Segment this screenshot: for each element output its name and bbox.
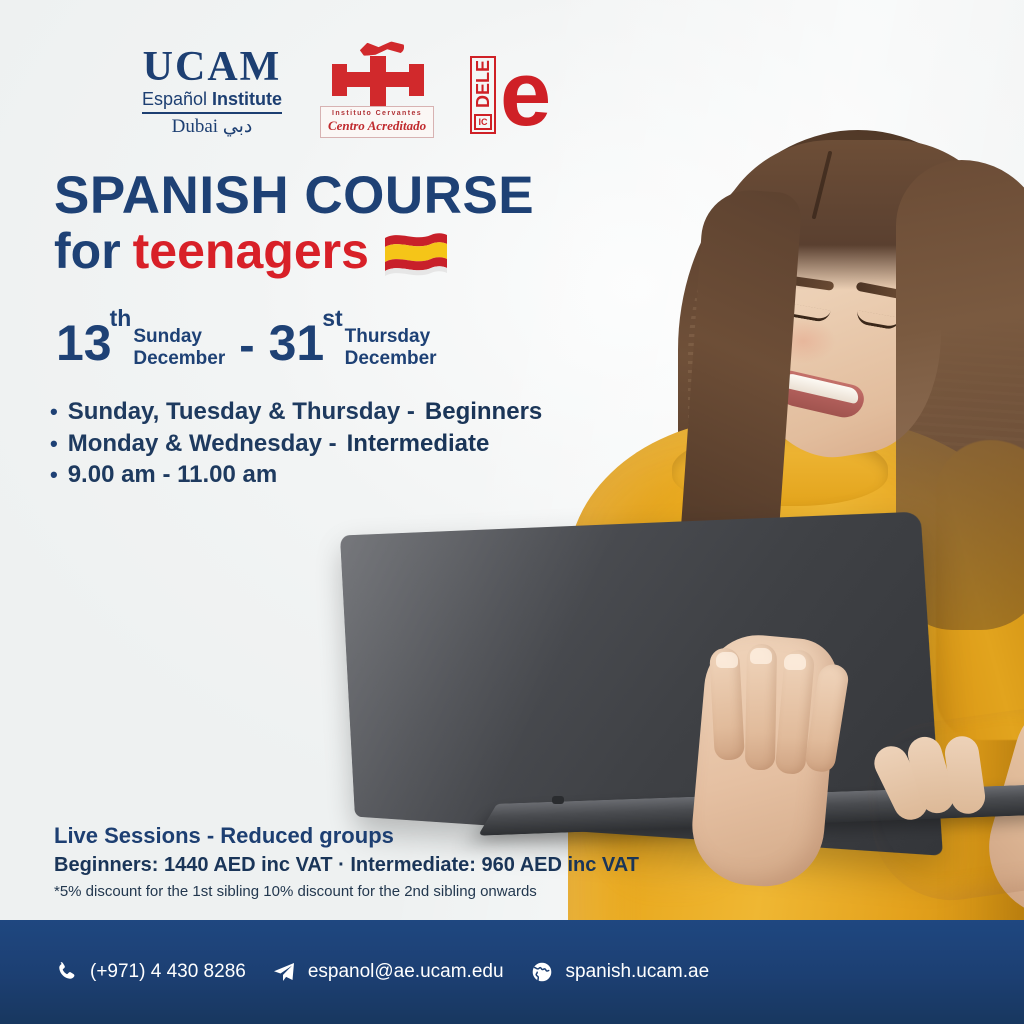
date-end-day: 31 — [269, 320, 325, 368]
pricing-block: Live Sessions - Reduced groups Beginners… — [54, 822, 639, 904]
website-url: spanish.ucam.ae — [566, 961, 710, 983]
headline-block: SPANISH COURSE for teenagers — [54, 168, 614, 278]
contact-website[interactable]: spanish.ucam.ae — [530, 960, 710, 984]
email-address: espanol@ae.ucam.edu — [308, 961, 504, 983]
cervantes-cross-vertical — [370, 56, 386, 108]
date-separator: - — [239, 320, 254, 371]
date-start-suffix: th — [110, 308, 132, 330]
cervantes-tilde-icon — [360, 41, 405, 56]
dele-mark-box: DELE IC — [470, 56, 496, 134]
schedule-level: Beginners — [425, 396, 542, 428]
ucam-subtitle-light: Español — [142, 89, 212, 109]
pricing-fees: Beginners: 1440 AED inc VAT · Intermedia… — [54, 851, 639, 880]
date-end-weekday: Thursday — [345, 326, 437, 348]
bullet-icon: • — [50, 429, 58, 458]
contact-phone[interactable]: (+971) 4 430 8286 — [54, 960, 246, 984]
ucam-city: Dubai دبي — [142, 117, 282, 136]
fingernail — [784, 654, 806, 670]
ucam-subtitle-bold: Institute — [212, 89, 282, 109]
dele-letter-e: e — [500, 59, 551, 131]
date-start-day: 13 — [56, 320, 112, 368]
fingernail — [716, 652, 738, 668]
ucam-wordmark: UCAM — [142, 46, 282, 88]
poster-canvas: UCAM Español Institute Dubai دبي Institu… — [0, 0, 1024, 1024]
dele-ic-badge: IC — [474, 114, 492, 130]
contact-email[interactable]: espanol@ae.ucam.edu — [272, 960, 504, 984]
schedule-time: 9.00 am - 11.00 am — [68, 459, 277, 491]
headline-line-2: for teenagers — [54, 225, 614, 278]
cervantes-accreditation: Centro Acreditado — [321, 118, 433, 134]
date-end-month: December — [345, 348, 437, 370]
schedule-list: • Sunday, Tuesday & Thursday - Beginners… — [50, 396, 542, 491]
logo-dele: DELE IC e — [470, 52, 578, 138]
cervantes-label-box: Instituto Cervantes Centro Acreditado — [320, 106, 434, 138]
schedule-days: Monday & Wednesday - — [68, 428, 337, 460]
bullet-icon: • — [50, 460, 58, 489]
logo-bar: UCAM Español Institute Dubai دبي Institu… — [0, 34, 720, 138]
logo-ucam: UCAM Español Institute Dubai دبي — [142, 46, 282, 138]
cervantes-name: Instituto Cervantes — [321, 110, 433, 117]
fingernail — [750, 648, 772, 664]
bullet-icon: • — [50, 397, 58, 426]
pricing-note: *5% discount for the 1st sibling 10% dis… — [54, 880, 639, 904]
headline-line-1: SPANISH COURSE — [54, 168, 614, 223]
contact-footer: (+971) 4 430 8286 espanol@ae.ucam.edu sp… — [0, 920, 1024, 1024]
ucam-divider — [142, 112, 282, 114]
headline-teenagers: teenagers — [133, 225, 369, 278]
ucam-subtitle: Español Institute — [142, 90, 282, 108]
headline-for: for — [54, 225, 121, 278]
globe-icon — [530, 960, 554, 984]
date-start-month: December — [133, 348, 225, 370]
spain-flag-icon — [381, 228, 449, 276]
date-start-when: Sunday December — [133, 326, 225, 371]
date-start-weekday: Sunday — [133, 326, 225, 348]
dele-wordmark: DELE — [473, 60, 494, 108]
date-end-suffix: st — [322, 308, 342, 330]
list-item: • Sunday, Tuesday & Thursday - Beginners — [50, 396, 542, 428]
course-dates: 13 th Sunday December - 31 st Thursday D… — [56, 320, 437, 371]
list-item: • 9.00 am - 11.00 am — [50, 459, 542, 491]
list-item: • Monday & Wednesday - Intermediate — [50, 428, 542, 460]
pricing-heading: Live Sessions - Reduced groups — [54, 822, 639, 851]
schedule-days: Sunday, Tuesday & Thursday - — [68, 396, 415, 428]
date-end: 31 st Thursday December — [269, 320, 437, 371]
laptop-foot — [552, 796, 564, 804]
phone-icon — [54, 960, 78, 984]
paper-plane-icon — [272, 960, 296, 984]
phone-number: (+971) 4 430 8286 — [90, 961, 246, 983]
schedule-level: Intermediate — [347, 428, 490, 460]
date-end-when: Thursday December — [345, 326, 437, 371]
date-start: 13 th Sunday December — [56, 320, 225, 371]
logo-instituto-cervantes: Instituto Cervantes Centro Acreditado — [316, 42, 436, 138]
